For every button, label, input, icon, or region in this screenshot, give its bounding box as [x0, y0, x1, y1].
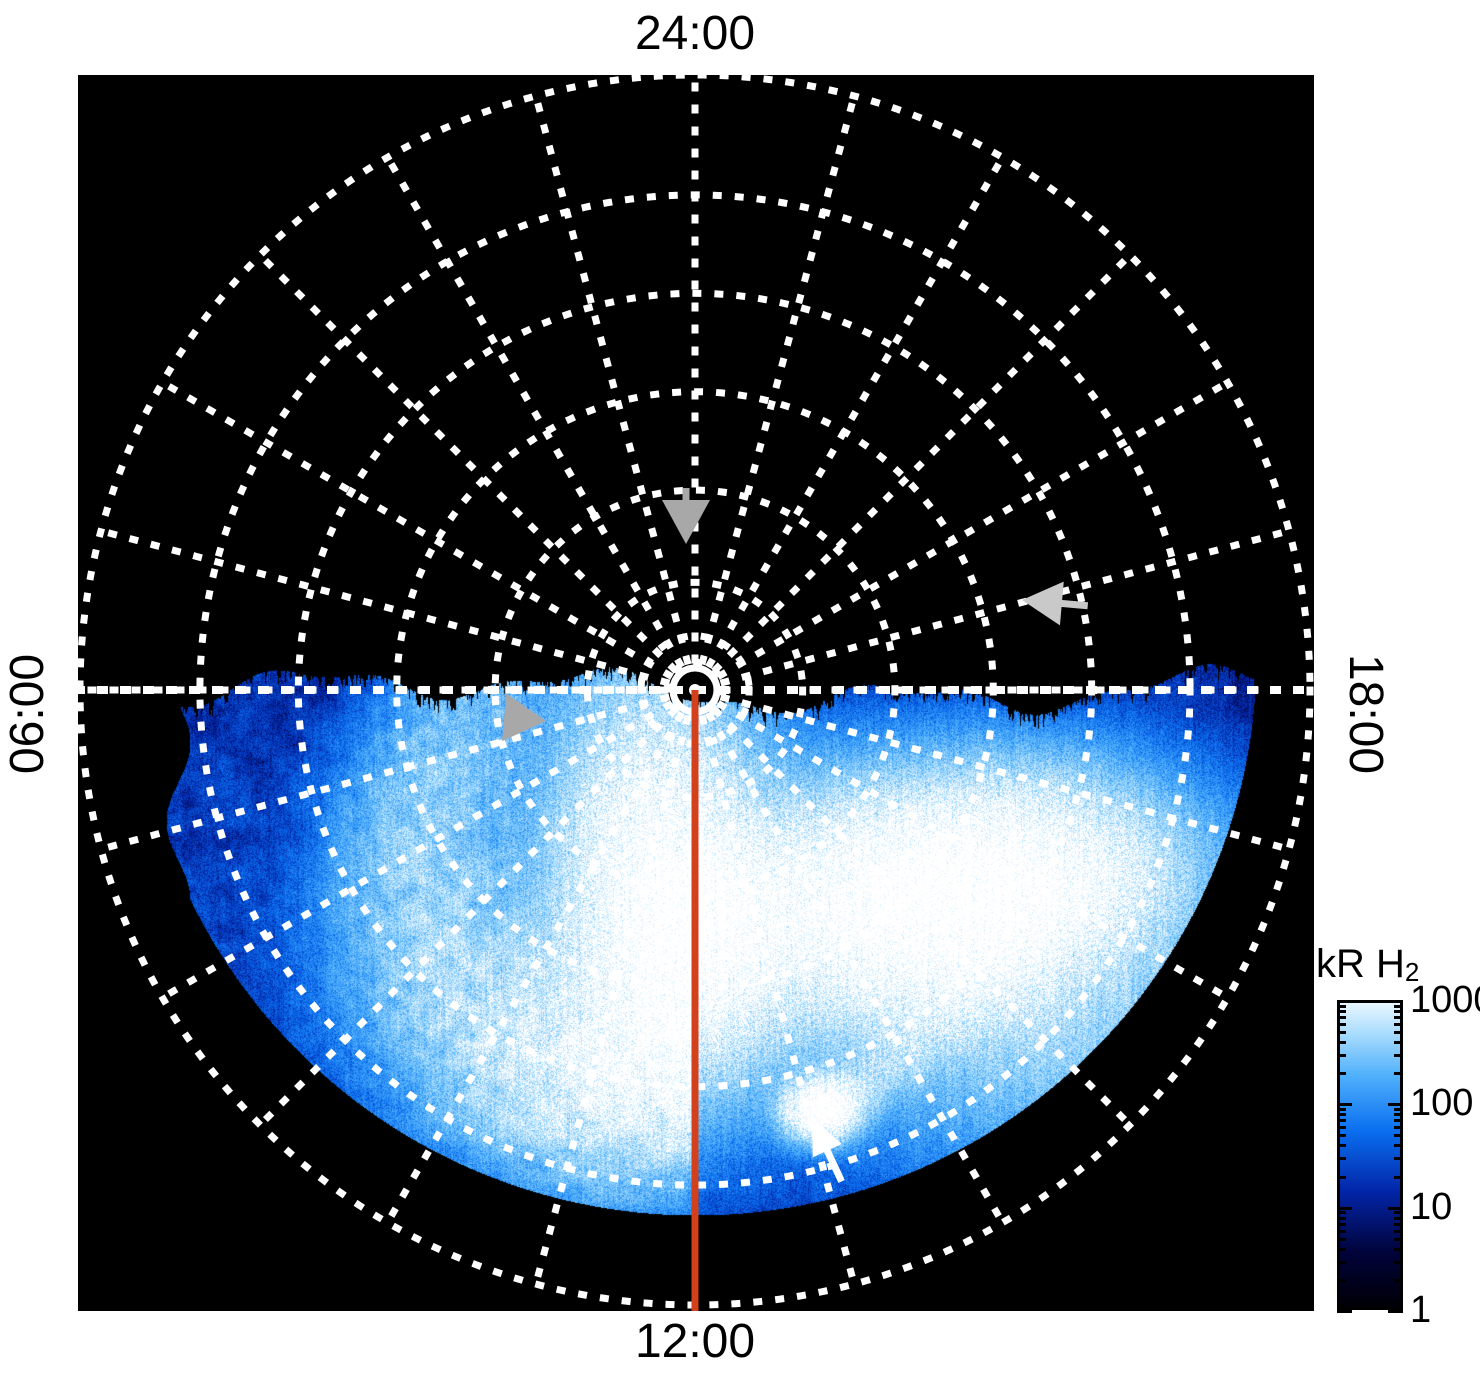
colorbar-tick: [1394, 1248, 1403, 1251]
figure-root: 24:00 12:00 06:00 18:00 kR H2 1000100101: [0, 0, 1480, 1384]
colorbar-tick: [1337, 1108, 1346, 1111]
colorbar-tick: [1337, 1113, 1346, 1116]
colorbar-title-main: kR H: [1316, 942, 1405, 986]
colorbar-tick: [1394, 1108, 1403, 1111]
colorbar-tick: [1394, 1016, 1403, 1019]
colorbar-tick: [1394, 1113, 1403, 1116]
colorbar-tick: [1337, 1103, 1352, 1106]
colorbar-tick: [1337, 1176, 1346, 1179]
colorbar-tick: [1394, 1211, 1403, 1214]
colorbar-tick-label: 100: [1410, 1084, 1473, 1122]
grid-and-annotation-overlay: [78, 75, 1314, 1311]
colorbar-tick: [1388, 1207, 1403, 1210]
colorbar-tick: [1394, 1223, 1403, 1226]
meridian-line: [388, 157, 681, 664]
colorbar-tick: [1337, 1054, 1346, 1057]
colorbar-tick: [1337, 1072, 1346, 1075]
colorbar-tick: [1394, 1054, 1403, 1057]
colorbar-tick-label: 1000: [1410, 981, 1480, 1019]
meridian-line: [101, 698, 666, 849]
colorbar-tick: [1394, 1023, 1403, 1026]
colorbar-tick: [1394, 1010, 1403, 1013]
clock-label-bottom: 12:00: [0, 1318, 1390, 1366]
colorbar-tick: [1394, 1144, 1403, 1147]
colorbar-title: kR H2: [1316, 944, 1419, 985]
colorbar-tick: [1337, 1016, 1346, 1019]
colorbar-tick: [1337, 1144, 1346, 1147]
meridian-line: [162, 383, 669, 676]
annotation-arrow-footprint: [797, 1111, 856, 1188]
colorbar-tick: [1394, 1157, 1403, 1160]
meridian-line: [716, 711, 1130, 1125]
colorbar-tick: [1394, 1119, 1403, 1122]
colorbar-tick: [1337, 1010, 1346, 1013]
colorbar-tick: [1337, 1230, 1346, 1233]
colorbar-tick: [1337, 1238, 1346, 1241]
meridian-line: [703, 719, 854, 1284]
colorbar-tick: [1394, 1176, 1403, 1179]
meridian-line: [721, 705, 1228, 998]
colorbar-tick: [1394, 1134, 1403, 1137]
annotation-arrow-left-head: [1020, 578, 1064, 625]
meridian-line: [536, 719, 687, 1284]
colorbar-tick: [1337, 1134, 1346, 1137]
annotation-arrow-down-head: [662, 500, 710, 544]
meridian-line: [703, 96, 854, 661]
annotation-arrow-right: [502, 693, 548, 744]
annotation-arrow-down: [662, 488, 710, 544]
colorbar: kR H2 1000100101: [1316, 944, 1480, 1324]
clock-label-right: 18:00: [1341, 624, 1389, 804]
colorbar-tick: [1388, 1103, 1403, 1106]
colorbar-tick: [1337, 1223, 1346, 1226]
colorbar-tick: [1337, 1211, 1346, 1214]
colorbar-tick: [1394, 1126, 1403, 1129]
clock-label-left: 06:00: [4, 624, 52, 804]
meridian-line: [388, 716, 681, 1223]
colorbar-tick: [1337, 1207, 1352, 1210]
colorbar-tick: [1337, 1217, 1346, 1220]
colorbar-tick: [1337, 1261, 1346, 1264]
meridian-line: [710, 157, 1003, 664]
colorbar-tick-label: 1: [1410, 1291, 1431, 1329]
colorbar-tick: [1337, 1248, 1346, 1251]
meridian-line: [710, 716, 1003, 1223]
colorbar-tick: [1394, 1230, 1403, 1233]
colorbar-tick: [1337, 1005, 1346, 1008]
meridian-line: [260, 255, 674, 669]
colorbar-tick: [1337, 1119, 1346, 1122]
colorbar-tick: [1394, 1217, 1403, 1220]
colorbar-tick: [1394, 1041, 1403, 1044]
colorbar-tick: [1337, 1031, 1346, 1034]
colorbar-tick: [1394, 1031, 1403, 1034]
colorbar-tick: [1337, 1279, 1346, 1282]
annotation-arrow-right-head: [502, 693, 548, 744]
colorbar-tick: [1394, 1261, 1403, 1264]
annotation-arrow-left: [1020, 578, 1090, 628]
colorbar-tick-label: 10: [1410, 1188, 1452, 1226]
colorbar-tick: [1337, 1023, 1346, 1026]
meridian-line: [724, 698, 1289, 849]
colorbar-tick: [1394, 1005, 1403, 1008]
colorbar-tick: [1394, 1072, 1403, 1075]
meridian-line: [260, 711, 674, 1125]
meridian-line: [162, 705, 669, 998]
meridian-line: [101, 531, 666, 682]
colorbar-tick: [1337, 1310, 1352, 1313]
meridian-line: [721, 383, 1228, 676]
colorbar-tick: [1394, 1279, 1403, 1282]
meridian-line: [536, 96, 687, 661]
colorbar-tick: [1394, 1238, 1403, 1241]
annotation-arrow-footprint-head: [797, 1111, 841, 1157]
meridian-line: [724, 531, 1289, 682]
colorbar-tick: [1337, 1126, 1346, 1129]
colorbar-tick: [1388, 1310, 1403, 1313]
polar-image-panel: [78, 75, 1314, 1311]
colorbar-tick: [1337, 1157, 1346, 1160]
colorbar-tick: [1337, 1041, 1346, 1044]
clock-label-top: 24:00: [0, 10, 1390, 58]
